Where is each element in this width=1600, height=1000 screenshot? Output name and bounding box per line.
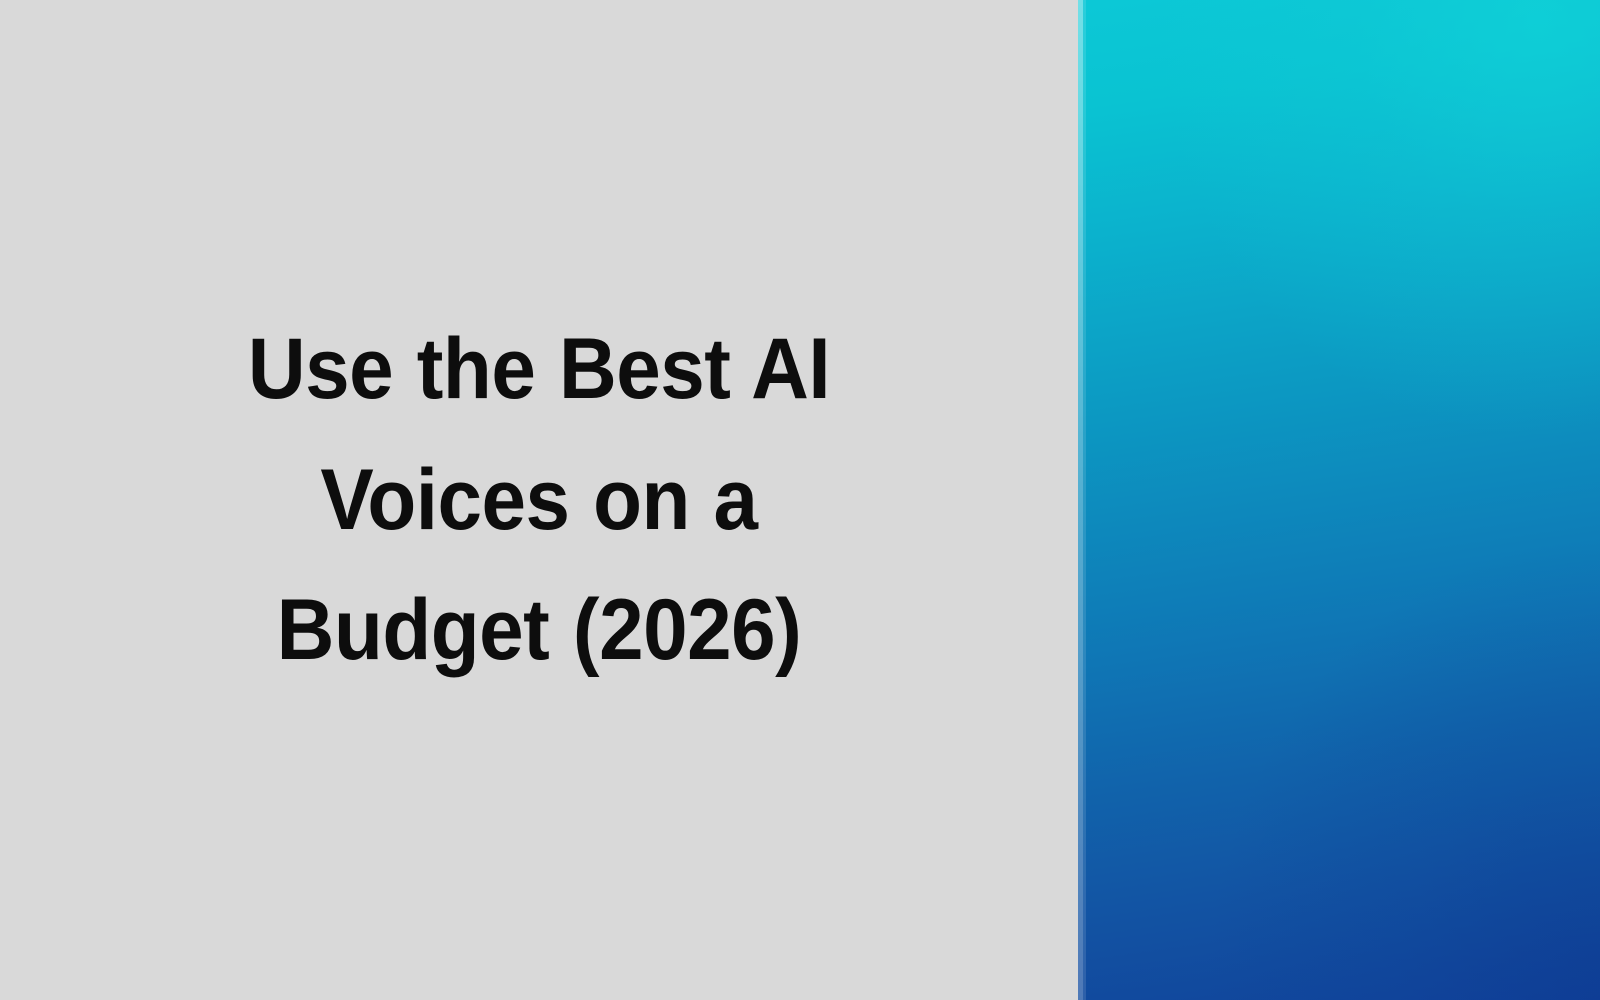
- gradient-fill: [1078, 0, 1600, 1000]
- screenshot-root: Use the Best AI Voices on a Budget (2026…: [0, 0, 1600, 1000]
- gradient-panel: [1078, 0, 1600, 1000]
- page-title: Use the Best AI Voices on a Budget (2026…: [177, 304, 901, 696]
- title-panel: Use the Best AI Voices on a Budget (2026…: [0, 0, 1078, 1000]
